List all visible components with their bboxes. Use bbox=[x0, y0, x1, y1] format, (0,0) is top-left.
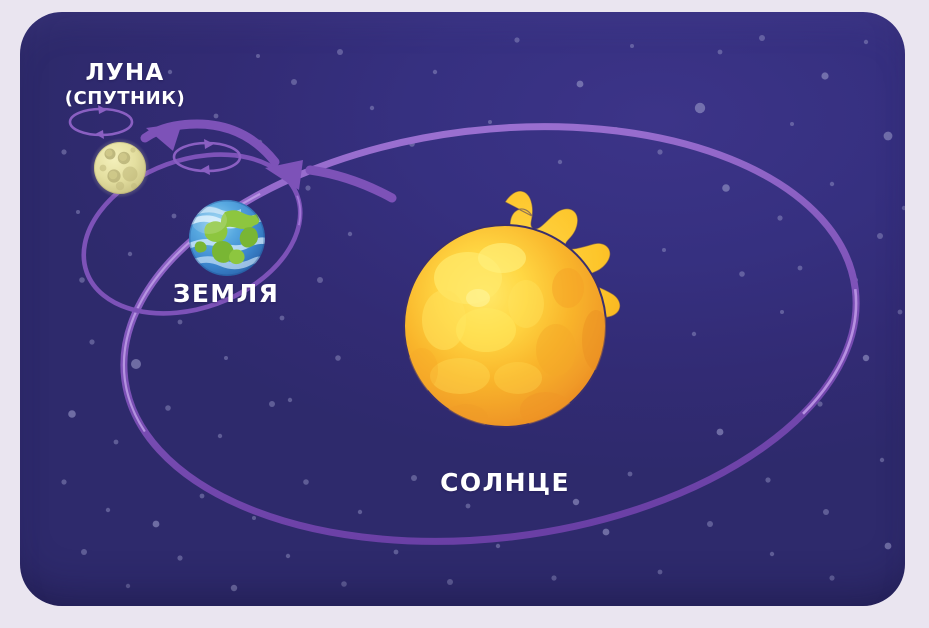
moon-rotation-marker bbox=[70, 105, 132, 139]
label-moon: ЛУНА bbox=[20, 60, 230, 86]
label-moon-subtitle: (СПУТНИК) bbox=[20, 88, 230, 109]
space-background-panel: ЛУНА (СПУТНИК) ЗЕМЛЯ СОЛНЦЕ bbox=[20, 12, 905, 606]
label-sun: СОЛНЦЕ bbox=[390, 468, 620, 497]
earth-rotation-marker bbox=[174, 139, 240, 175]
arrow-to-earth bbox=[265, 160, 392, 198]
label-earth: ЗЕМЛЯ bbox=[126, 279, 326, 308]
diagram-canvas: ЛУНА (СПУТНИК) ЗЕМЛЯ СОЛНЦЕ bbox=[0, 0, 929, 628]
